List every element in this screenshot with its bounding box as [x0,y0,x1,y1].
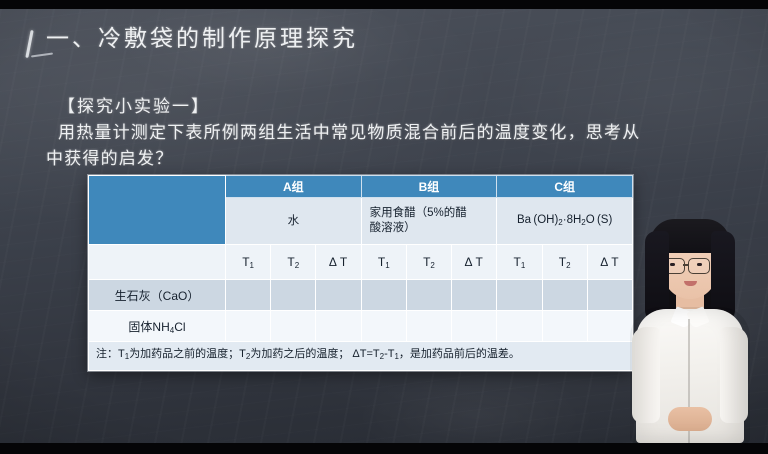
table-row-group-headers: A组 B组 C组 [89,176,633,198]
group-header-a: A组 [226,176,362,198]
prompt-line-1: 用热量计测定下表所例两组生活中常见物质混合前后的温度变化，思考从 [58,123,640,143]
table-row: 固体NH4Cl [89,311,633,342]
data-cell[interactable] [542,311,587,342]
video-frame: 一、冷敷袋的制作原理探究 【探究小实验一】 用热量计测定下表所例两组生活中常见物… [0,0,768,454]
measure-header-c-t1: T1 [497,245,542,280]
experiment-table-container: A组 B组 C组 水 家用食醋（5%的醋酸溶液） Ba (OH)2·8H2O (… [88,175,633,371]
measure-header-c-t2: T2 [542,245,587,280]
data-cell[interactable] [316,311,361,342]
data-cell[interactable] [226,280,271,311]
data-cell[interactable] [361,311,406,342]
measure-header-b-dt: Δ T [452,245,497,280]
table-row: 生石灰（CaO） [89,280,633,311]
measure-header-b-t2: T2 [406,245,451,280]
letterbox-bar-bottom [0,443,768,454]
glasses-bridge-icon [683,264,688,266]
row-label-cao: 生石灰（CaO） [89,280,226,311]
group-header-b: B组 [361,176,497,198]
data-cell[interactable] [406,311,451,342]
table-corner-blank [89,176,226,245]
data-cell[interactable] [271,280,316,311]
data-cell[interactable] [497,280,542,311]
group-header-c: C组 [497,176,633,198]
substance-a: 水 [226,198,362,245]
measure-header-a-dt: Δ T [316,245,361,280]
data-cell[interactable] [406,280,451,311]
substance-b: 家用食醋（5%的醋酸溶液） [361,198,497,245]
table-row-note: 注：T1为加药品之前的温度；T2为加药之后的温度； ΔT=T2-T1，是加药品前… [89,342,633,371]
section-label: 【探究小实验一】 [58,95,210,119]
table-row-measure-headers: T1 T2 Δ T T1 T2 Δ T T1 T2 Δ T [89,245,633,280]
measure-corner-blank [89,245,226,280]
prompt-text: 用热量计测定下表所例两组生活中常见物质混合前后的温度变化，思考从中获得的启发？ [58,120,640,172]
experiment-table: A组 B组 C组 水 家用食醋（5%的醋酸溶液） Ba (OH)2·8H2O (… [88,175,633,371]
data-cell[interactable] [361,280,406,311]
data-cell[interactable] [226,311,271,342]
data-cell[interactable] [452,311,497,342]
presenter-shading [630,307,750,443]
data-cell[interactable] [316,280,361,311]
measure-header-a-t1: T1 [226,245,271,280]
presenter-video-overlay [612,211,768,443]
prompt-line-2: 中获得的启发？ [46,146,640,172]
data-cell[interactable] [271,311,316,342]
slide-title: 一、冷敷袋的制作原理探究 [46,24,358,54]
table-note: 注：T1为加药品之前的温度；T2为加药之后的温度； ΔT=T2-T1，是加药品前… [89,342,633,371]
data-cell[interactable] [497,311,542,342]
data-cell[interactable] [542,280,587,311]
measure-header-a-t2: T2 [271,245,316,280]
data-cell[interactable] [452,280,497,311]
row-label-nh4cl: 固体NH4Cl [89,311,226,342]
presenter-eye-left [670,263,675,266]
presenter-eye-right [697,263,702,266]
measure-header-b-t1: T1 [361,245,406,280]
glasses-right-lens-icon [688,258,710,274]
letterbox-bar-top [0,0,768,9]
